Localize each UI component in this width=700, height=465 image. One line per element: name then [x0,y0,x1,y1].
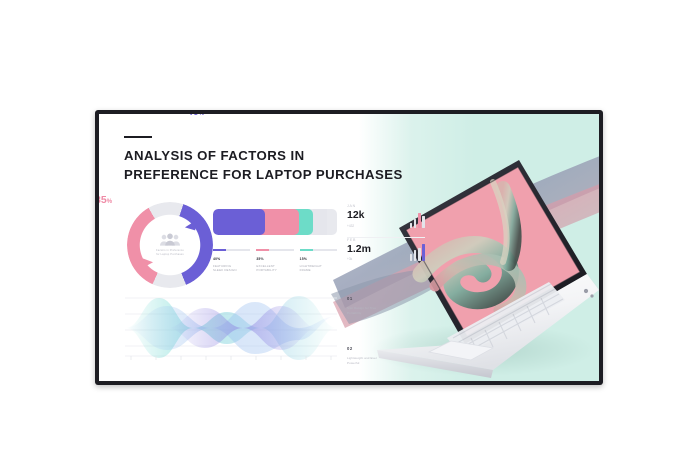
legend-rule [300,249,337,251]
title-rule-divider [124,136,152,138]
legend-swatch [213,249,226,251]
bar-segment-other [313,209,327,235]
kpi-column: JAN 12k +432 FEB 1.2m +3k [347,204,425,261]
donut-center-label: Factors in Preference for Laptop Purchas… [141,249,199,257]
legend-item: 40% FEATURING SLEEK DESIGN [213,249,250,273]
donut-chart: Factors in Preference for Laptop Purchas… [127,202,213,288]
kpi-text-group: JAN 12k +432 [347,204,365,228]
page-title: ANALYSIS OF FACTORS IN PREFERENCE FOR LA… [124,147,403,184]
legend-item: 15% LIGHTWEIGHT FRAME [300,249,337,273]
kpi-value: 1.2m [347,244,371,255]
note-number: 01 [347,296,429,301]
bar-segment-sleek-design [213,209,265,235]
kpi-value: 12k [347,210,365,221]
donut-center-content: Factors in Preference for Laptop Purchas… [141,233,199,257]
legend-rule [256,249,293,251]
note-item: 01 Slim Design for True Portability [347,296,429,316]
legend-swatch [300,249,313,251]
kpi-delta: +432 [347,224,365,228]
kpi-delta: +3k [347,257,371,261]
legend-rule [213,249,250,251]
stacked-bar-track [213,209,337,235]
legend-swatch [256,249,269,251]
donut-label-35: 35% [99,194,112,206]
title-block: ANALYSIS OF FACTORS IN PREFERENCE FOR LA… [124,136,403,185]
spark-bar [414,219,417,228]
legend-item: 35% EXCELLENT PORTABILITY [256,249,293,273]
legend-percent: 35% [256,257,293,261]
spark-bar [422,216,425,228]
legend-label: LIGHTWEIGHT FRAME [300,264,337,273]
donut-label-40: 40% [187,114,204,118]
spark-bar [414,250,417,261]
kpi-month: JAN [347,204,365,208]
bar-segment-portability [260,209,298,235]
spark-bar [410,223,413,228]
monitor-frame: ANALYSIS OF FACTORS IN PREFERENCE FOR LA… [95,110,603,385]
waveform-svg [125,292,337,364]
kpi-text-group: FEB 1.2m +3k [347,238,371,262]
legend-percent: 40% [213,257,250,261]
note-text: Lightweight and Ever Powerful [347,356,429,366]
kpi-card-jan: JAN 12k +432 [347,204,425,228]
kpi-sparkline [410,243,425,261]
spark-bar-highlight [418,213,421,228]
kpi-month: FEB [347,238,371,242]
people-icon [159,233,181,246]
kpi-card-feb: FEB 1.2m +3k [347,238,425,262]
note-text: Slim Design for True Portability [347,306,429,316]
note-item: 02 Lightweight and Ever Powerful [347,346,429,366]
legend-percent: 15% [300,257,337,261]
monitor-screen: ANALYSIS OF FACTORS IN PREFERENCE FOR LA… [99,114,599,381]
notes-list: 01 Slim Design for True Portability 02 L… [347,296,429,366]
kpi-sparkline [410,210,425,228]
spark-bar [418,248,421,261]
legend-label: EXCELLENT PORTABILITY [256,264,293,273]
legend-label: FEATURING SLEEK DESIGN [213,264,250,273]
spark-bar [410,254,413,261]
waveform-chart [125,292,337,364]
bar-legend: 40% FEATURING SLEEK DESIGN 35% EXCELLENT… [213,249,337,273]
stacked-bar-chart: 40% FEATURING SLEEK DESIGN 35% EXCELLENT… [213,209,337,273]
spark-bar-highlight [422,244,425,261]
note-number: 02 [347,346,429,351]
